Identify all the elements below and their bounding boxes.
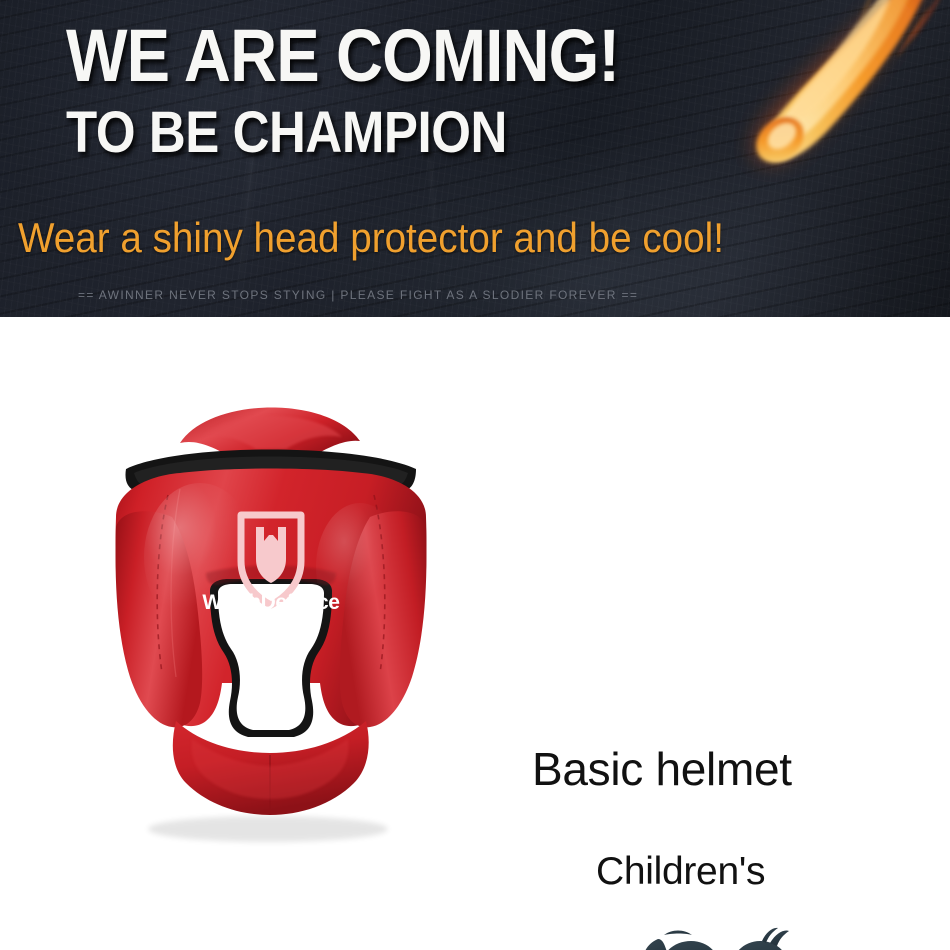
banner-tagline: Wear a shiny head protector and be cool!: [18, 214, 724, 262]
boxing-headgear-icon: WorthDefence: [60, 377, 480, 847]
banner-headline-primary: WE ARE COMING!: [66, 19, 619, 93]
product-section: WorthDefence Basic helmet Children's: [0, 317, 950, 950]
banner-light-streak: [605, 61, 638, 310]
banner-motto: == AWINNER NEVER STOPS STYING | PLEASE F…: [78, 288, 638, 302]
brand-name-on-product: WorthDefence: [202, 591, 339, 614]
product-audience: Children's: [596, 849, 765, 895]
flame-icon: [724, 0, 950, 202]
product-title: Basic helmet: [532, 743, 792, 795]
product-marketing-page: WE ARE COMING! TO BE CHAMPION Wear a shi…: [0, 0, 950, 950]
two-kids-faces-icon: [636, 923, 816, 950]
promo-banner: WE ARE COMING! TO BE CHAMPION Wear a shi…: [0, 0, 950, 317]
banner-headline-secondary: TO BE CHAMPION: [66, 104, 507, 162]
